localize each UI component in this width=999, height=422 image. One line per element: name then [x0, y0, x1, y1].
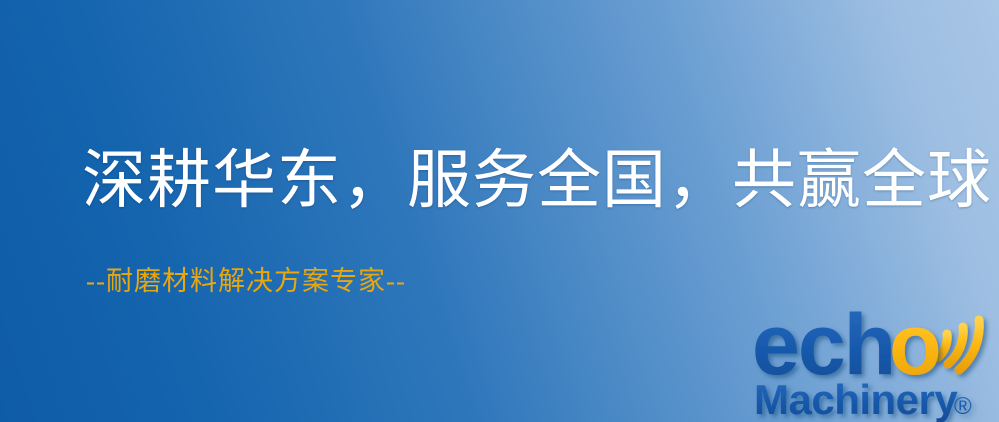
page-title: 深耕华东，服务全国，共赢全球: [82, 146, 992, 215]
logo-tagline: Machinery: [754, 376, 958, 422]
page-subtitle: --耐磨材料解决方案专家--: [86, 265, 406, 297]
echo-machinery-logo: ech o Machinery ®: [752, 296, 999, 422]
signal-wave-icon: [937, 320, 979, 370]
logo-tagline-group: Machinery ®: [754, 376, 972, 422]
registered-trademark-icon: ®: [954, 393, 972, 420]
logo-graphic: ech o Machinery ®: [752, 296, 999, 422]
hero-banner: 深耕华东，服务全国，共赢全球 --耐磨材料解决方案专家--: [0, 0, 999, 422]
